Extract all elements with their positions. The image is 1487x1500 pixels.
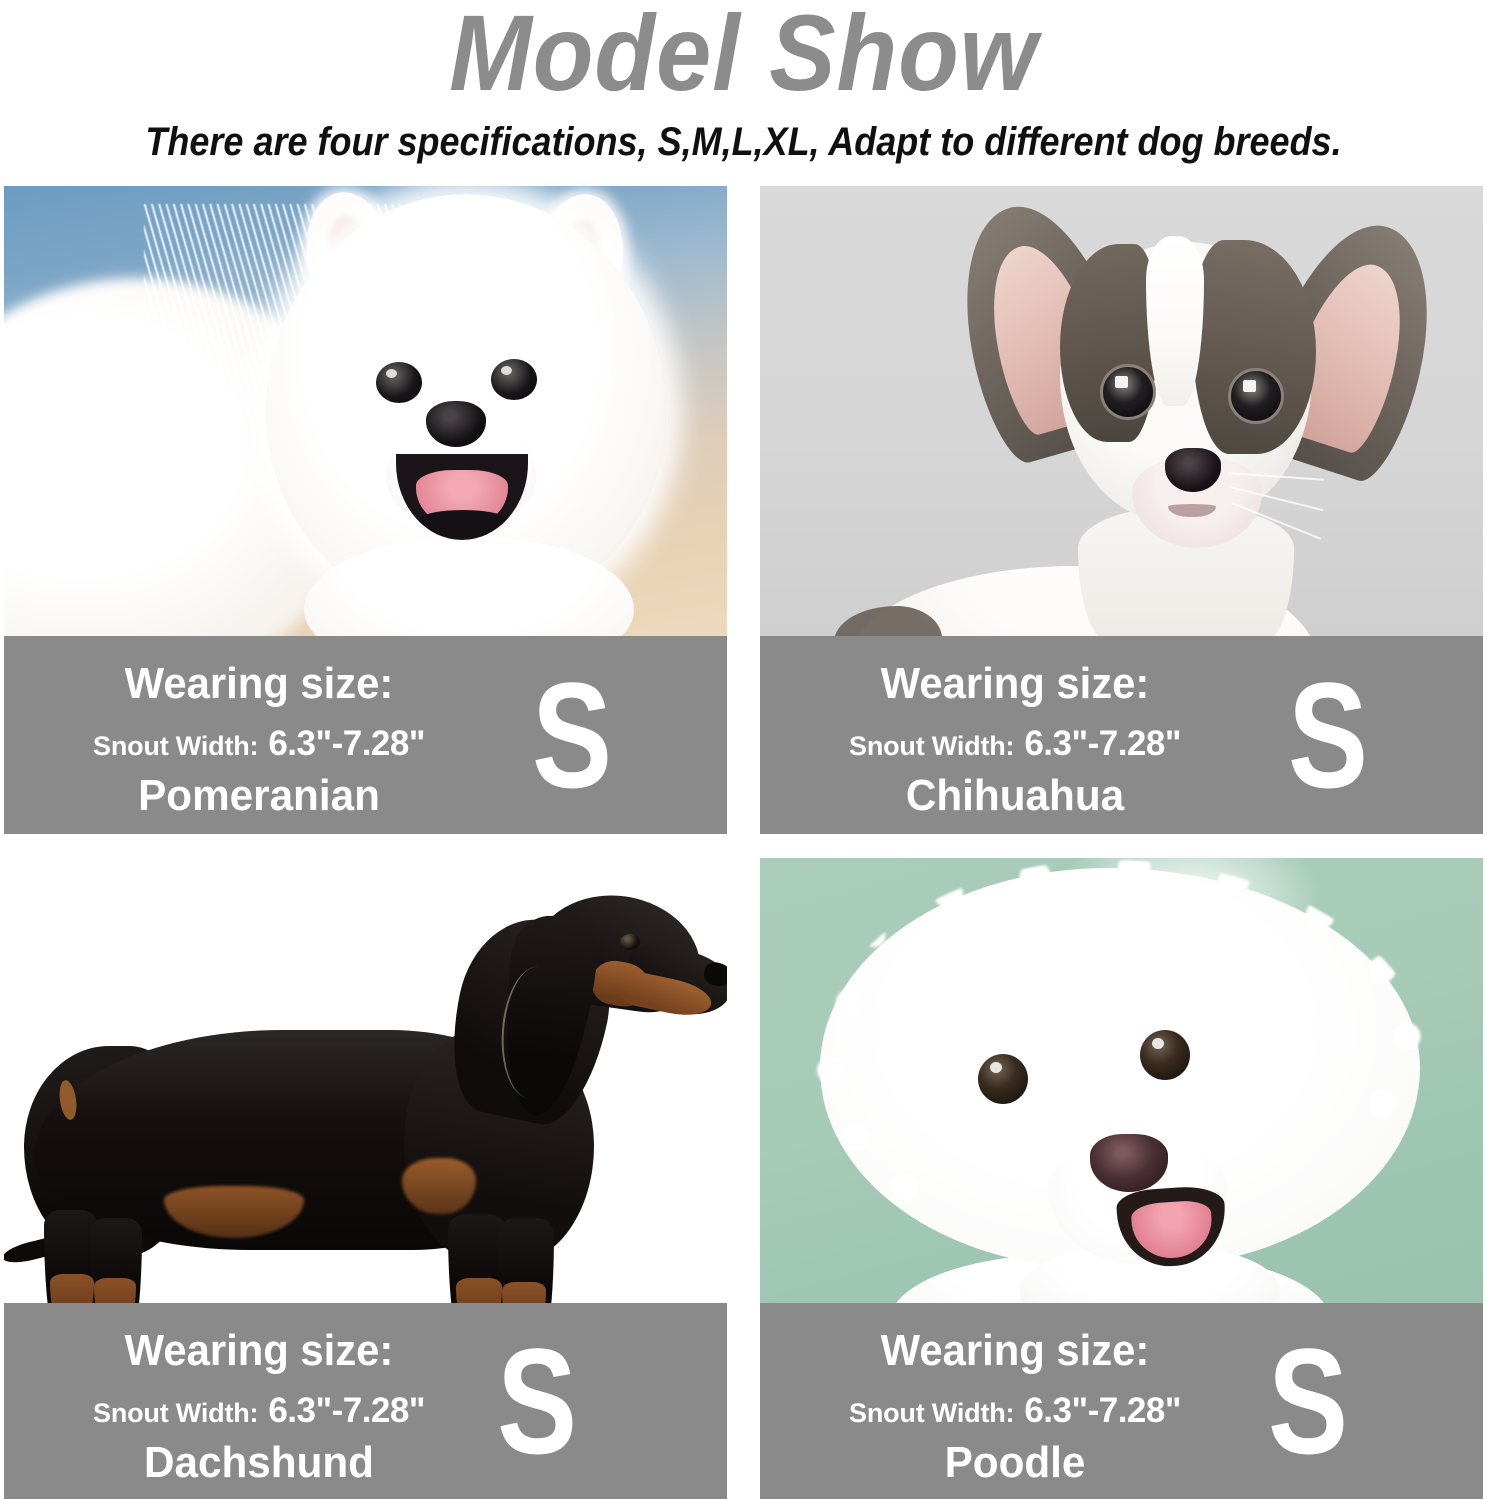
wearing-size-label: Wearing size: — [17, 1325, 502, 1377]
snout-width-row: Snout Width:6.3"-7.28" — [4, 1391, 514, 1431]
snout-width-value: 6.3"-7.28" — [268, 1391, 425, 1430]
dog-eye — [620, 934, 640, 950]
dog-tongue — [1130, 1199, 1214, 1260]
page-header: Model Show There are four specifications… — [0, 0, 1487, 186]
breed-photo-chihuahua — [760, 186, 1483, 636]
snout-width-label: Snout Width: — [849, 1398, 1014, 1428]
snout-width-value: 6.3"-7.28" — [268, 724, 425, 763]
snout-width-label: Snout Width: — [93, 731, 258, 761]
size-letter-badge: S — [1288, 660, 1368, 810]
label-text-block: Wearing size: Snout Width:6.3"-7.28" Pom… — [4, 636, 514, 834]
wearing-size-label: Wearing size: — [773, 1325, 1258, 1377]
size-label-bar: Wearing size: Snout Width:6.3"-7.28" Chi… — [760, 636, 1483, 834]
dog-tan-leg-marking — [50, 1274, 94, 1303]
dog-eye-right — [491, 359, 537, 400]
page-title: Model Show — [59, 0, 1427, 112]
size-label-bar: Wearing size: Snout Width:6.3"-7.28" Poo… — [760, 1303, 1483, 1499]
size-label-bar: Wearing size: Snout Width:6.3"-7.28" Dac… — [4, 1303, 727, 1499]
breed-card-grid: Wearing size: Snout Width:6.3"-7.28" Pom… — [0, 186, 1487, 1500]
breed-card-dachshund[interactable]: Wearing size: Snout Width:6.3"-7.28" Dac… — [4, 858, 727, 1499]
breed-name: Chihuahua — [770, 770, 1260, 822]
snout-width-row: Snout Width:6.3"-7.28" — [4, 724, 514, 764]
wearing-size-label: Wearing size: — [773, 658, 1258, 710]
breed-name: Dachshund — [14, 1437, 504, 1489]
label-text-block: Wearing size: Snout Width:6.3"-7.28" Dac… — [4, 1303, 514, 1499]
dog-tan-leg-marking — [456, 1278, 502, 1303]
page-subtitle: There are four specifications, S,M,L,XL,… — [74, 118, 1412, 166]
wearing-size-label: Wearing size: — [17, 658, 502, 710]
breed-card-pomeranian[interactable]: Wearing size: Snout Width:6.3"-7.28" Pom… — [4, 186, 727, 834]
dog-tan-leg-marking — [94, 1278, 136, 1303]
breed-card-chihuahua[interactable]: Wearing size: Snout Width:6.3"-7.28" Chi… — [760, 186, 1483, 834]
size-letter-badge: S — [532, 660, 612, 810]
size-letter-badge: S — [497, 1326, 577, 1476]
size-label-bar: Wearing size: Snout Width:6.3"-7.28" Pom… — [4, 636, 727, 834]
ear-highlight — [497, 964, 570, 1100]
snout-width-value: 6.3"-7.28" — [1024, 1391, 1181, 1430]
label-text-block: Wearing size: Snout Width:6.3"-7.28" Poo… — [760, 1303, 1270, 1499]
breed-photo-pomeranian — [4, 186, 727, 636]
breed-photo-poodle — [760, 858, 1483, 1303]
dog-eye-right — [1140, 1030, 1190, 1080]
dog-eye-right — [1228, 368, 1284, 424]
breed-card-poodle[interactable]: Wearing size: Snout Width:6.3"-7.28" Poo… — [760, 858, 1483, 1499]
dog-tan-leg-marking — [502, 1282, 546, 1303]
snout-width-label: Snout Width: — [849, 731, 1014, 761]
breed-name: Poodle — [770, 1437, 1260, 1489]
snout-width-value: 6.3"-7.28" — [1024, 724, 1181, 763]
breed-name: Pomeranian — [14, 770, 504, 822]
dog-eye-left — [376, 362, 422, 403]
snout-width-label: Snout Width: — [93, 1398, 258, 1428]
dog-eye-left — [978, 1054, 1028, 1104]
snout-width-row: Snout Width:6.3"-7.28" — [760, 1391, 1270, 1431]
dog-eye-left — [1100, 364, 1156, 420]
label-text-block: Wearing size: Snout Width:6.3"-7.28" Chi… — [760, 636, 1270, 834]
size-letter-badge: S — [1268, 1326, 1348, 1476]
breed-photo-dachshund — [4, 858, 727, 1303]
dog-tan-hip-marking — [402, 1158, 476, 1214]
snout-width-row: Snout Width:6.3"-7.28" — [760, 724, 1270, 764]
